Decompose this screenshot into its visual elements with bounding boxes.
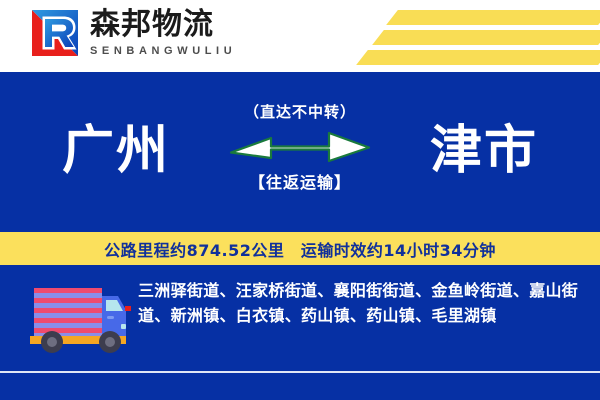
roundtrip-note: 【往返运输】 bbox=[195, 173, 405, 193]
decor-stripe-2 bbox=[372, 30, 600, 45]
decor-stripe-1 bbox=[386, 10, 600, 25]
route-row: 广州 （直达不中转） 【往返运输】 津市 bbox=[0, 102, 600, 232]
coverage-area-text: 三洲驿街道、汪家桥街道、襄阳街街道、金鱼岭街道、嘉山街道、新洲镇、白衣镇、药山镇… bbox=[138, 278, 582, 328]
decor-stripe-3 bbox=[356, 50, 600, 65]
senbang-r-logo-icon bbox=[30, 8, 80, 58]
banner-header: 森邦物流 SENBANGWULIU bbox=[0, 0, 600, 72]
delivery-truck-icon bbox=[22, 280, 132, 355]
route-middle-block: （直达不中转） 【往返运输】 bbox=[195, 102, 405, 193]
coverage-row: 三洲驿街道、汪家桥街道、襄阳街街道、金鱼岭街道、嘉山街道、新洲镇、白衣镇、药山镇… bbox=[0, 272, 600, 372]
origin-city: 广州 bbox=[62, 120, 170, 182]
distance-duration-bar: 公路里程约874.52公里 运输时效约14小时34分钟 bbox=[0, 232, 600, 265]
logistics-route-banner: 森邦物流 SENBANGWULIU 广州 （直达不中转） 【往返运输】 津市 bbox=[0, 0, 600, 400]
footer-panel bbox=[0, 373, 600, 400]
brand-name-cn: 森邦物流 bbox=[90, 8, 236, 42]
brand-logo-block: 森邦物流 SENBANGWULIU bbox=[30, 8, 236, 58]
main-blue-panel: 广州 （直达不中转） 【往返运输】 津市 公路里程约874.52公里 运输时效约… bbox=[0, 72, 600, 372]
brand-name-en: SENBANGWULIU bbox=[90, 44, 236, 58]
destination-city: 津市 bbox=[430, 120, 538, 182]
distance-duration-text: 公路里程约874.52公里 运输时效约14小时34分钟 bbox=[104, 237, 496, 261]
double-arrow-icon bbox=[195, 127, 405, 169]
brand-name-block: 森邦物流 SENBANGWULIU bbox=[90, 8, 236, 58]
direct-shipping-note: （直达不中转） bbox=[195, 102, 405, 122]
